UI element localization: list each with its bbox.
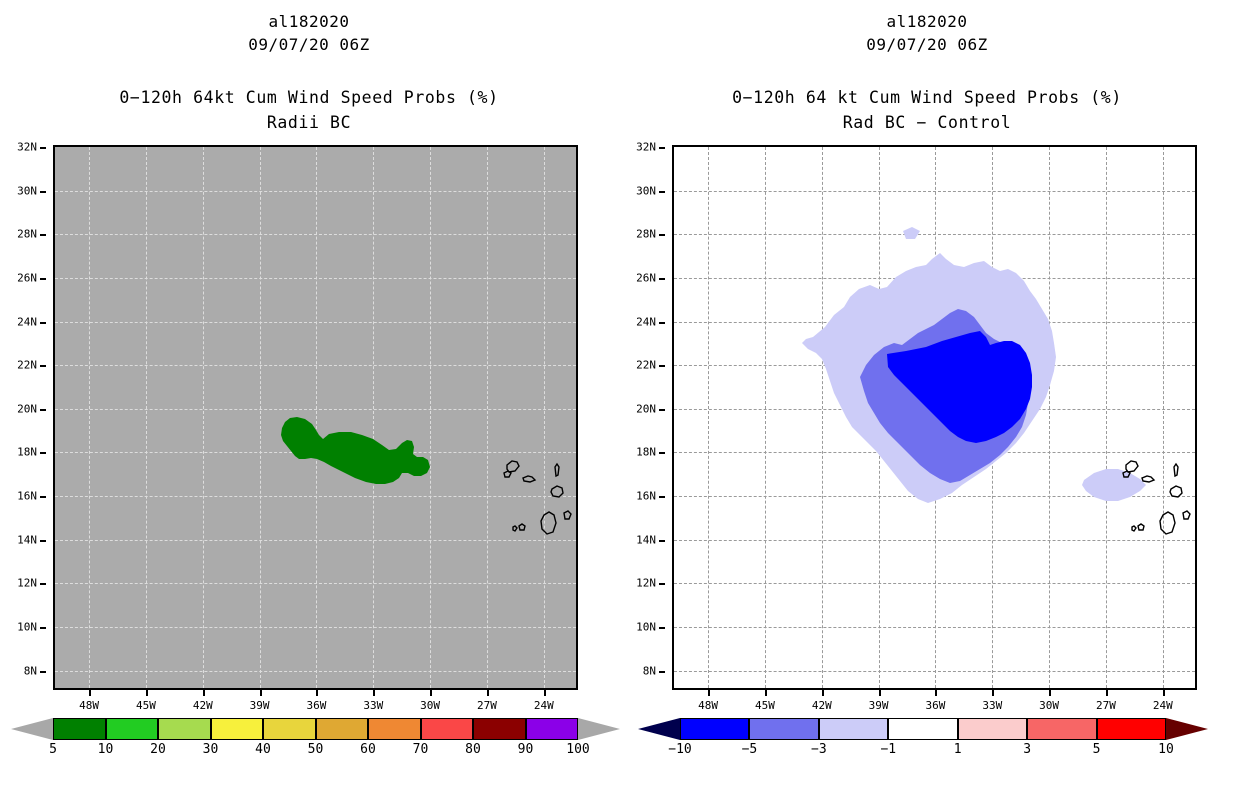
- y-tick-label-14N: 14N: [17, 533, 37, 546]
- y-tick-label-24N: 24N: [636, 315, 656, 328]
- colorbar-tick-label-10: 100: [566, 742, 589, 757]
- y-tick-label-28N: 28N: [636, 228, 656, 241]
- x-axis-right: 48W45W42W39W36W33W30W27W24W: [672, 690, 1197, 714]
- x-tick-label-48W: 48W: [79, 699, 99, 712]
- y-tick-label-22N: 22N: [17, 359, 37, 372]
- y-tick-label-30N: 30N: [636, 184, 656, 197]
- y-tick-label-30N: 30N: [17, 184, 37, 197]
- y-tick-30N: [659, 191, 665, 193]
- y-tick-label-24N: 24N: [17, 315, 37, 328]
- y-tick-18N: [659, 452, 665, 454]
- x-tick-label-33W: 33W: [982, 699, 1002, 712]
- colorbar-segment-2[interactable]: [819, 718, 888, 740]
- y-tick-22N: [659, 365, 665, 367]
- y-tick-12N: [40, 583, 46, 585]
- y-tick-10N: [659, 627, 665, 629]
- panel-title-right: 0−120h 64 kt Cum Wind Speed Probs (%): [618, 88, 1236, 107]
- island-santo-antao: [1126, 461, 1138, 472]
- y-axis-left: 32N30N28N26N24N22N20N18N16N14N12N10N8N: [0, 145, 46, 690]
- x-tick-label-36W: 36W: [926, 699, 946, 712]
- x-tick-39W: [879, 690, 881, 696]
- colorbar-tick-label-7: 70: [413, 742, 429, 757]
- y-tick-32N: [40, 147, 46, 149]
- panel-subtitle-left: Radii BC: [0, 113, 618, 132]
- y-axis-right: 32N30N28N26N24N22N20N18N16N14N12N10N8N: [619, 145, 665, 690]
- colorbar-segment-0[interactable]: [53, 718, 106, 740]
- y-tick-label-10N: 10N: [636, 620, 656, 633]
- colorbar-tick-label-2: −3: [811, 742, 827, 757]
- y-tick-26N: [659, 278, 665, 280]
- y-tick-16N: [659, 496, 665, 498]
- colorbar-difference[interactable]: [680, 718, 1166, 740]
- x-tick-label-39W: 39W: [250, 699, 270, 712]
- colorbar-tick-label-8: 80: [465, 742, 481, 757]
- island-boa-vista: [1170, 486, 1182, 497]
- x-tick-label-42W: 42W: [193, 699, 213, 712]
- y-tick-label-16N: 16N: [636, 490, 656, 503]
- island-sao-nicolau: [1142, 476, 1154, 482]
- storm-id-left: al182020: [0, 12, 618, 31]
- storm-id-right: al182020: [618, 12, 1236, 31]
- colorbar-segment-3[interactable]: [211, 718, 264, 740]
- colorbar-tick-label-5: 50: [308, 742, 324, 757]
- island-boa-vista: [551, 486, 563, 497]
- island-maio: [519, 524, 525, 530]
- colorbar-tick-label-1: −5: [742, 742, 758, 757]
- x-tick-label-24W: 24W: [1153, 699, 1173, 712]
- y-tick-label-16N: 16N: [17, 490, 37, 503]
- y-tick-28N: [659, 234, 665, 236]
- colorbar-segment-8[interactable]: [473, 718, 526, 740]
- cape-verde-islands-left: [55, 147, 576, 688]
- x-tick-42W: [822, 690, 824, 696]
- x-tick-label-27W: 27W: [477, 699, 497, 712]
- island-santo-antao: [507, 461, 519, 472]
- y-tick-label-22N: 22N: [636, 359, 656, 372]
- colorbar-cap-left: [11, 718, 53, 740]
- y-tick-24N: [659, 322, 665, 324]
- x-tick-label-27W: 27W: [1096, 699, 1116, 712]
- colorbar-segment-5[interactable]: [316, 718, 369, 740]
- island-sao-vicente: [504, 471, 511, 477]
- colorbar-labels-difference: −10−5−3−113510: [680, 742, 1166, 762]
- y-tick-label-12N: 12N: [17, 577, 37, 590]
- x-tick-label-24W: 24W: [534, 699, 554, 712]
- y-tick-label-26N: 26N: [636, 271, 656, 284]
- x-tick-42W: [203, 690, 205, 696]
- x-tick-label-42W: 42W: [812, 699, 832, 712]
- y-tick-28N: [40, 234, 46, 236]
- y-tick-20N: [40, 409, 46, 411]
- x-tick-label-45W: 45W: [755, 699, 775, 712]
- x-tick-33W: [992, 690, 994, 696]
- cape-verde-islands-right: [674, 147, 1195, 688]
- y-tick-32N: [659, 147, 665, 149]
- x-tick-24W: [544, 690, 546, 696]
- y-tick-label-28N: 28N: [17, 228, 37, 241]
- colorbar-segment-1[interactable]: [106, 718, 159, 740]
- x-tick-45W: [765, 690, 767, 696]
- island-sao-nicolau: [523, 476, 535, 482]
- colorbar-segment-6[interactable]: [1097, 718, 1166, 740]
- y-tick-12N: [659, 583, 665, 585]
- colorbar-tick-label-5: 3: [1023, 742, 1031, 757]
- panel-subtitle-right: Rad BC − Control: [618, 113, 1236, 132]
- island-fogo: [1183, 511, 1190, 519]
- y-tick-label-8N: 8N: [24, 664, 37, 677]
- x-tick-label-45W: 45W: [136, 699, 156, 712]
- x-tick-label-39W: 39W: [869, 699, 889, 712]
- x-tick-30W: [1049, 690, 1051, 696]
- island-brava: [1132, 526, 1136, 531]
- island-fogo: [564, 511, 571, 519]
- colorbar-tick-label-2: 20: [150, 742, 166, 757]
- x-axis-left: 48W45W42W39W36W33W30W27W24W: [53, 690, 578, 714]
- datetime-right: 09/07/20 06Z: [618, 35, 1236, 54]
- y-tick-label-18N: 18N: [17, 446, 37, 459]
- x-tick-27W: [1106, 690, 1108, 696]
- map-plot-radii-bc[interactable]: [53, 145, 578, 690]
- x-tick-label-48W: 48W: [698, 699, 718, 712]
- island-sal: [555, 464, 559, 476]
- y-tick-26N: [40, 278, 46, 280]
- colorbar-segment-9[interactable]: [526, 718, 579, 740]
- x-tick-36W: [935, 690, 937, 696]
- colorbar-tick-label-0: −10: [668, 742, 691, 757]
- colorbar-tick-label-3: 30: [203, 742, 219, 757]
- y-tick-10N: [40, 627, 46, 629]
- colorbar-tick-label-7: 10: [1158, 742, 1174, 757]
- colorbar-cap-right: [578, 718, 620, 740]
- x-tick-label-30W: 30W: [1039, 699, 1059, 712]
- colorbar-tick-label-4: 40: [255, 742, 271, 757]
- x-tick-36W: [316, 690, 318, 696]
- colorbar-segment-1[interactable]: [749, 718, 818, 740]
- colorbar-segment-2[interactable]: [158, 718, 211, 740]
- island-brava: [513, 526, 517, 531]
- x-tick-48W: [89, 690, 91, 696]
- y-tick-22N: [40, 365, 46, 367]
- y-tick-label-26N: 26N: [17, 271, 37, 284]
- colorbar-tick-label-1: 10: [98, 742, 114, 757]
- x-tick-27W: [487, 690, 489, 696]
- island-sao-vicente: [1123, 471, 1130, 477]
- colorbar-tick-label-0: 5: [49, 742, 57, 757]
- y-tick-label-32N: 32N: [636, 141, 656, 154]
- datetime-left: 09/07/20 06Z: [0, 35, 618, 54]
- y-tick-8N: [659, 671, 665, 673]
- x-tick-label-33W: 33W: [363, 699, 383, 712]
- island-santiago: [541, 512, 556, 534]
- y-tick-20N: [659, 409, 665, 411]
- colorbar-cap-right: [1166, 718, 1208, 740]
- y-tick-14N: [40, 540, 46, 542]
- y-tick-30N: [40, 191, 46, 193]
- island-maio: [1138, 524, 1144, 530]
- x-tick-label-36W: 36W: [307, 699, 327, 712]
- x-tick-30W: [430, 690, 432, 696]
- island-santiago: [1160, 512, 1175, 534]
- map-clip-left: [55, 147, 576, 688]
- colorbar-cap-left: [638, 718, 680, 740]
- x-tick-24W: [1163, 690, 1165, 696]
- colorbar-segment-5[interactable]: [1027, 718, 1096, 740]
- panel-rad-bc-minus-control: al182020 09/07/20 06Z 0−120h 64 kt Cum W…: [618, 0, 1236, 800]
- y-tick-label-10N: 10N: [17, 620, 37, 633]
- y-tick-8N: [40, 671, 46, 673]
- colorbar-segment-7[interactable]: [421, 718, 474, 740]
- x-tick-48W: [708, 690, 710, 696]
- y-tick-label-12N: 12N: [636, 577, 656, 590]
- x-tick-39W: [260, 690, 262, 696]
- y-tick-label-14N: 14N: [636, 533, 656, 546]
- colorbar-tick-label-6: 5: [1093, 742, 1101, 757]
- colorbar-segment-0[interactable]: [680, 718, 749, 740]
- panel-title-left: 0−120h 64kt Cum Wind Speed Probs (%): [0, 88, 618, 107]
- colorbar-segment-4[interactable]: [958, 718, 1027, 740]
- colorbar-segment-3[interactable]: [888, 718, 957, 740]
- y-tick-label-20N: 20N: [17, 402, 37, 415]
- x-tick-45W: [146, 690, 148, 696]
- y-tick-label-20N: 20N: [636, 402, 656, 415]
- map-clip-right: [674, 147, 1195, 688]
- panel-radii-bc: al182020 09/07/20 06Z 0−120h 64kt Cum Wi…: [0, 0, 618, 800]
- y-tick-label-8N: 8N: [643, 664, 656, 677]
- y-tick-label-32N: 32N: [17, 141, 37, 154]
- x-tick-33W: [373, 690, 375, 696]
- colorbar-probability[interactable]: [53, 718, 578, 740]
- colorbar-tick-label-4: 1: [954, 742, 962, 757]
- colorbar-tick-label-3: −1: [880, 742, 896, 757]
- island-sal: [1174, 464, 1178, 476]
- colorbar-labels-probability: 5102030405060708090100: [53, 742, 578, 762]
- y-tick-14N: [659, 540, 665, 542]
- colorbar-segment-6[interactable]: [368, 718, 421, 740]
- map-plot-difference[interactable]: [672, 145, 1197, 690]
- colorbar-tick-label-6: 60: [360, 742, 376, 757]
- y-tick-24N: [40, 322, 46, 324]
- colorbar-segment-4[interactable]: [263, 718, 316, 740]
- x-tick-label-30W: 30W: [420, 699, 440, 712]
- y-tick-16N: [40, 496, 46, 498]
- y-tick-18N: [40, 452, 46, 454]
- y-tick-label-18N: 18N: [636, 446, 656, 459]
- colorbar-tick-label-9: 90: [518, 742, 534, 757]
